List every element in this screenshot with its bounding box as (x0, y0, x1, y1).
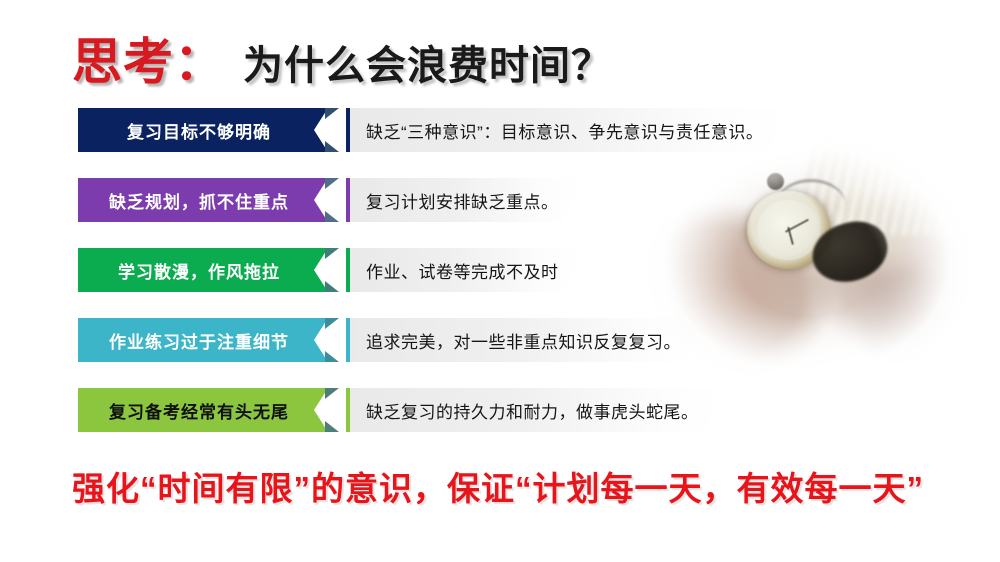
page-title: 思考：为什么会浪费时间？ (72, 22, 612, 94)
description-panel: 作业、试卷等完成不及时 (346, 248, 585, 292)
label-text: 作业练习过于注重细节 (109, 328, 297, 353)
label-text: 缺乏规划，抓不住重点 (109, 188, 297, 213)
label-body: 学习散漫，作风拖拉 (78, 248, 328, 292)
label-chevron: 缺乏规划，抓不住重点 (78, 178, 328, 222)
watch-face (757, 200, 820, 260)
description-text: 作业、试卷等完成不及时 (346, 258, 585, 283)
description-text: 复习计划安排缺乏重点。 (346, 188, 585, 213)
chevron-tail-bottom-icon (325, 351, 339, 362)
chevron-tail-bottom-icon (325, 211, 339, 222)
description-panel: 追求完美，对一些非重点知识反复复习。 (346, 318, 707, 362)
label-body: 缺乏规划，抓不住重点 (78, 178, 328, 222)
chevron-tail-top-icon (325, 108, 339, 119)
description-panel: 缺乏“三种意识”：目标意识、争先意识与责任意识。 (346, 108, 789, 152)
list-item: 学习散漫，作风拖拉 作业、试卷等完成不及时 (78, 248, 585, 292)
chevron-tail-top-icon (325, 318, 339, 329)
photo-sleeve-layer (805, 105, 995, 235)
list-item: 缺乏规划，抓不住重点 复习计划安排缺乏重点。 (78, 178, 585, 222)
label-chevron: 作业练习过于注重细节 (78, 318, 328, 362)
list-item: 复习目标不够明确 缺乏“三种意识”：目标意识、争先意识与责任意识。 (78, 108, 789, 152)
watch-case (747, 191, 831, 269)
description-text: 追求完美，对一些非重点知识反复复习。 (346, 328, 707, 353)
list-item: 作业练习过于注重细节 追求完美，对一些非重点知识反复复习。 (78, 318, 707, 362)
chevron-tail-top-icon (325, 248, 339, 259)
label-chevron: 复习备考经常有头无尾 (78, 388, 328, 432)
label-body: 作业练习过于注重细节 (78, 318, 328, 362)
title-rest: 为什么会浪费时间？ (243, 44, 612, 88)
label-text: 复习目标不够明确 (127, 118, 279, 143)
chevron-tail-bottom-icon (325, 281, 339, 292)
watch-crown (767, 173, 784, 190)
description-panel: 复习计划安排缺乏重点。 (346, 178, 585, 222)
label-body: 复习目标不够明确 (78, 108, 328, 152)
description-panel: 缺乏复习的持久力和耐力，做事虎头蛇尾。 (346, 388, 725, 432)
watch-lid (805, 214, 894, 291)
label-text: 学习散漫，作风拖拉 (118, 258, 288, 283)
description-text: 缺乏“三种意识”：目标意识、争先意识与责任意识。 (346, 118, 789, 143)
chevron-tail-top-icon (325, 388, 339, 399)
watch-chain-icon (776, 179, 846, 206)
label-text: 复习备考经常有头无尾 (109, 398, 297, 423)
label-chevron: 学习散漫，作风拖拉 (78, 248, 328, 292)
slide-canvas: 思考：为什么会浪费时间？ 复习目标不够明确 缺乏“三种意识”：目标意识、争先意识… (0, 0, 1000, 562)
chevron-tail-top-icon (325, 178, 339, 189)
list-item: 复习备考经常有头无尾 缺乏复习的持久力和耐力，做事虎头蛇尾。 (78, 388, 725, 432)
title-accent: 思考： (72, 34, 225, 90)
label-chevron: 复习目标不够明确 (78, 108, 328, 152)
label-body: 复习备考经常有头无尾 (78, 388, 328, 432)
chevron-tail-bottom-icon (325, 141, 339, 152)
chevron-tail-bottom-icon (325, 421, 339, 432)
description-text: 缺乏复习的持久力和耐力，做事虎头蛇尾。 (346, 398, 725, 423)
slogan-text: 强化“时间有限”的意识，保证“计划每一天，有效每一天” (72, 462, 924, 510)
